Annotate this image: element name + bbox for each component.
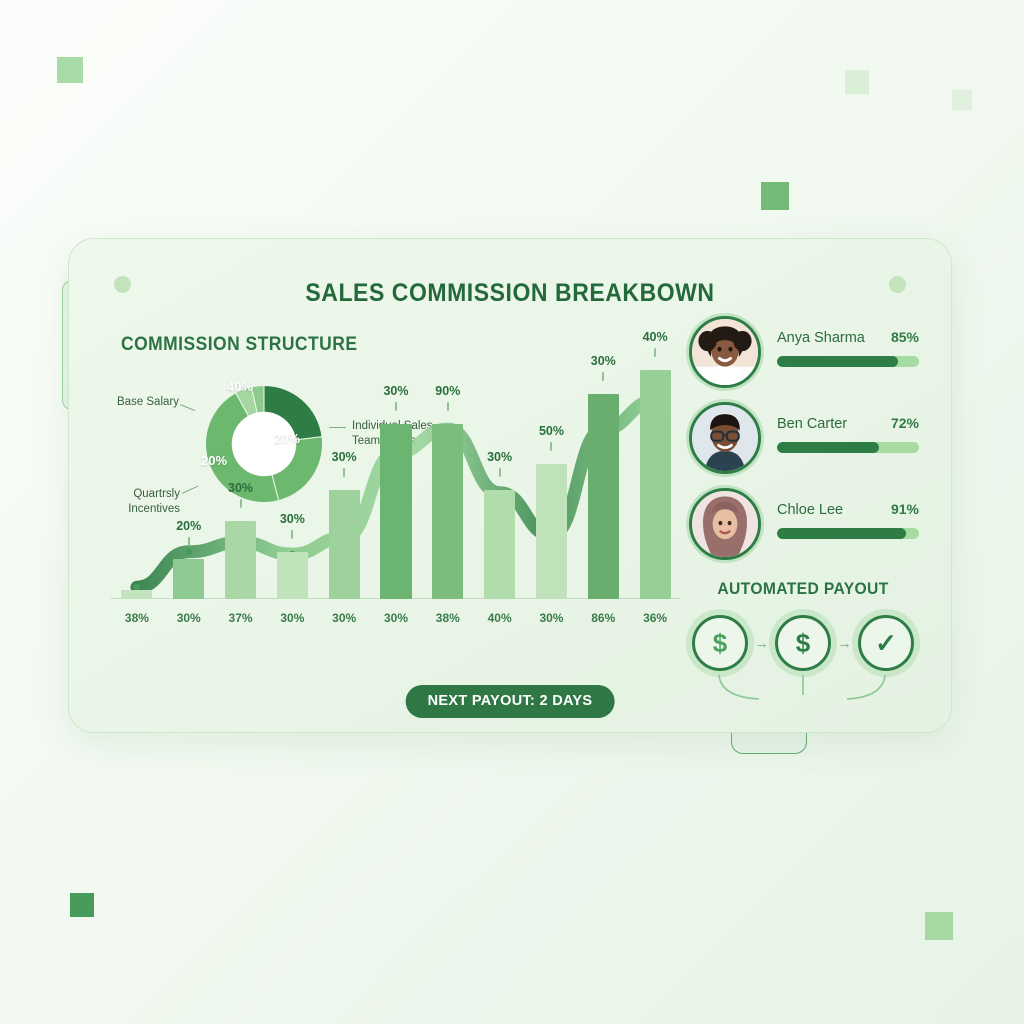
chart-bar[interactable]	[173, 559, 204, 599]
chart-x-tick-label: 30%	[177, 611, 201, 625]
chart-x-tick-label: 37%	[229, 611, 253, 625]
chart-bar-value-label: 90%	[435, 384, 460, 398]
avatar-chloe-icon	[692, 491, 758, 557]
payout-step-complete[interactable]: ✓	[858, 615, 914, 671]
chart-bar-tick-icon	[602, 372, 604, 381]
chart-x-tick-label: 30%	[539, 611, 563, 625]
chart-bar-value-label: 30%	[591, 354, 616, 368]
chart-bar-tick-icon	[654, 348, 656, 357]
chart-bar-value-label: 30%	[280, 512, 305, 526]
chart-x-tick-label: 36%	[643, 611, 667, 625]
chart-bar-value-label: 30%	[383, 384, 408, 398]
payout-step-dollar-2[interactable]: $	[775, 615, 831, 671]
check-icon: ✓	[875, 628, 897, 659]
chart-bar-tick-icon	[395, 402, 397, 411]
arrow-right-icon: →	[754, 635, 769, 652]
trend-point[interactable]	[185, 548, 192, 555]
rep-score: 72%	[891, 415, 919, 431]
chart-x-tick-label: 38%	[125, 611, 149, 625]
chart-bar-tick-icon	[550, 442, 552, 451]
chart-bar[interactable]	[588, 394, 619, 599]
dollar-icon: $	[713, 628, 727, 659]
chart-x-tick-label: 30%	[384, 611, 408, 625]
chart-bar-value-label: 50%	[539, 424, 564, 438]
chart-bar-tick-icon	[499, 468, 501, 477]
chart-bar[interactable]	[536, 464, 567, 599]
page-title: SALES COMMISSION BREAKBOWN	[104, 279, 915, 308]
dashboard-card: SALES COMMISSION BREAKBOWN COMMISSION ST…	[68, 238, 952, 733]
chart-bar[interactable]	[484, 490, 515, 599]
chart-bar-tick-icon	[343, 468, 345, 477]
chart-bar-value-label: 30%	[228, 481, 253, 495]
chart-bar[interactable]	[640, 370, 671, 599]
chart-bar-value-label: 30%	[332, 450, 357, 464]
automated-payout-title: AUTOMATED PAYOUT	[694, 579, 911, 599]
chart-bar[interactable]	[380, 424, 411, 599]
avatar-ben-icon	[692, 405, 758, 471]
decorative-square	[761, 182, 789, 210]
arrow-right-icon: →	[837, 635, 852, 652]
payout-connector-lines	[685, 673, 921, 707]
decorative-square	[845, 70, 869, 94]
chart-bar-tick-icon	[188, 537, 190, 546]
chart-bar[interactable]	[121, 590, 152, 599]
rep-progress-bar	[777, 528, 919, 539]
chart-bar[interactable]	[225, 521, 256, 599]
chart-plot-area: 38%20%30%30%37%30%30%30%30%30%30%90%38%3…	[111, 349, 681, 639]
decorative-square	[925, 912, 953, 940]
chart-bar[interactable]	[432, 424, 463, 599]
chart-bar[interactable]	[277, 552, 308, 599]
rep-name: Ben Carter	[777, 416, 847, 432]
rep-leaderboard: Anya Sharma 85% Ben Carter 7	[689, 314, 919, 572]
list-item[interactable]: Chloe Lee 91%	[689, 486, 919, 564]
commission-trend-chart: 38%20%30%30%37%30%30%30%30%30%30%90%38%3…	[111, 349, 681, 679]
chart-x-tick-label: 40%	[488, 611, 512, 625]
decorative-square	[57, 57, 83, 83]
chart-x-tick-label: 86%	[591, 611, 615, 625]
rep-score: 91%	[891, 501, 919, 517]
list-item[interactable]: Anya Sharma 85%	[689, 314, 919, 392]
chart-bar-value-label: 40%	[643, 330, 668, 344]
avatar	[689, 488, 761, 560]
chart-bar-value-label: 30%	[487, 450, 512, 464]
rep-progress-bar	[777, 442, 919, 453]
chart-bar-value-label: 20%	[176, 519, 201, 533]
dollar-icon: $	[796, 628, 810, 659]
chart-x-tick-label: 30%	[332, 611, 356, 625]
chart-bar-tick-icon	[447, 402, 449, 411]
chart-x-tick-label: 38%	[436, 611, 460, 625]
decorative-square	[952, 90, 972, 110]
rep-name: Anya Sharma	[777, 330, 865, 346]
payout-connector-svg	[685, 673, 921, 707]
rep-score: 85%	[891, 329, 919, 345]
chart-bar-tick-icon	[291, 530, 293, 539]
chart-bar[interactable]	[329, 490, 360, 599]
decorative-square	[70, 893, 94, 917]
chart-bar-tick-icon	[240, 499, 242, 508]
payout-step-list: $ → $ → ✓	[685, 615, 921, 671]
chart-x-tick-label: 30%	[280, 611, 304, 625]
avatar	[689, 402, 761, 474]
rep-name: Chloe Lee	[777, 502, 843, 518]
list-item[interactable]: Ben Carter 72%	[689, 400, 919, 478]
next-payout-badge[interactable]: NEXT PAYOUT: 2 DAYS	[406, 685, 615, 718]
automated-payout-section: AUTOMATED PAYOUT $ → $ → ✓	[685, 579, 921, 707]
rep-progress-bar	[777, 356, 919, 367]
payout-step-dollar-1[interactable]: $	[692, 615, 748, 671]
avatar	[689, 316, 761, 388]
avatar-anya-icon	[692, 319, 758, 385]
